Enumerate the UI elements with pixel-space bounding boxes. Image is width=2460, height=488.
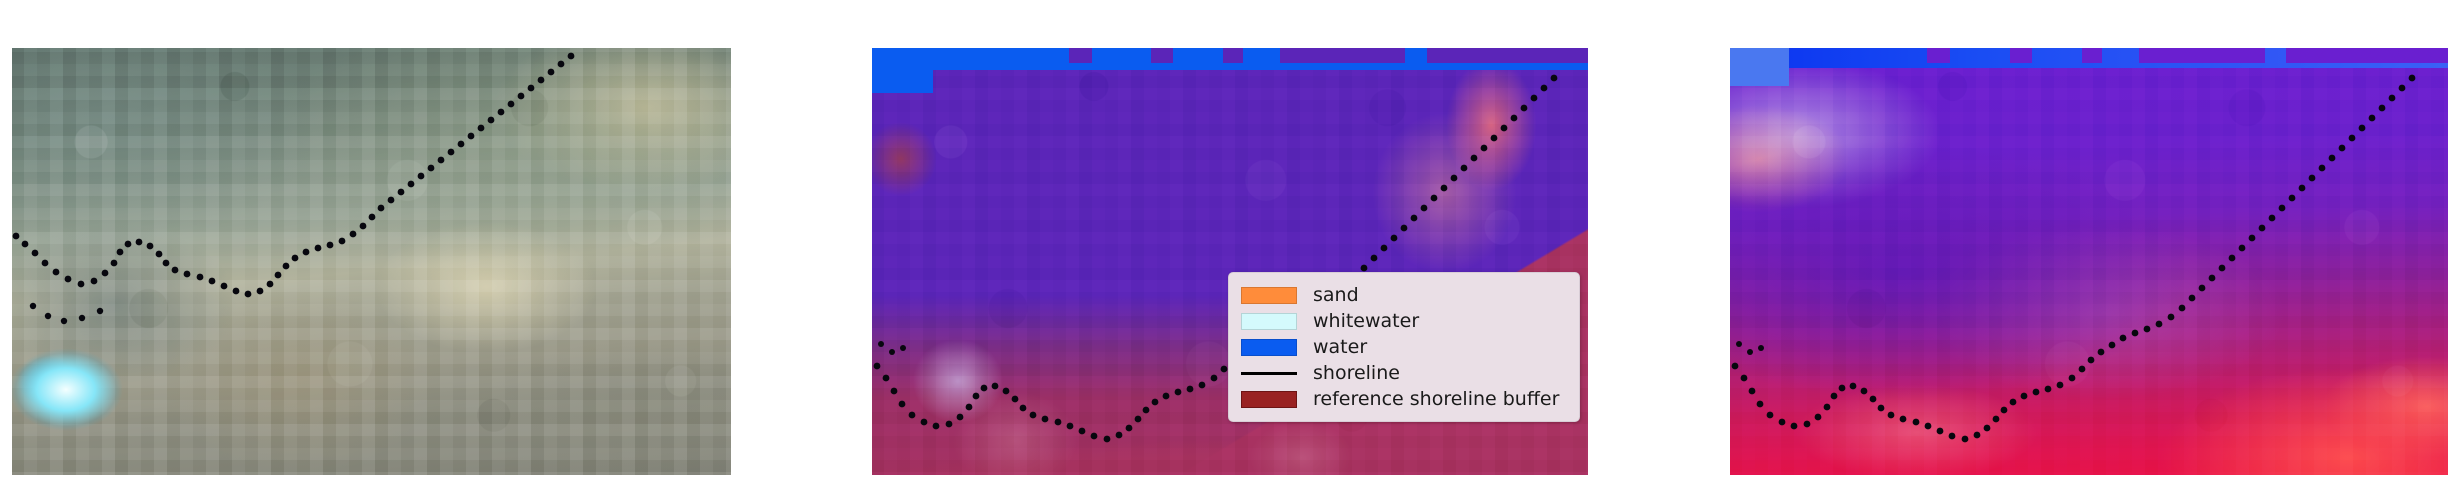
- legend-swatch-whitewater: [1241, 313, 1297, 330]
- legend-swatch-shoreline: [1241, 372, 1297, 375]
- sar-bright-cyan-patch: [12, 48, 731, 475]
- classified-water-notch-3: [1223, 48, 1243, 63]
- classified-water-corner: [872, 48, 933, 93]
- l9-pixel-mosaic: [1730, 48, 2448, 475]
- legend-label-reference-buffer: reference shoreline buffer: [1313, 388, 1559, 410]
- l9-water-corner: [1730, 48, 1789, 86]
- legend-swatch-reference-buffer: [1241, 391, 1297, 408]
- legend-item-sand: sand: [1241, 282, 1567, 308]
- figure-canvas: sar1728: [0, 0, 2460, 488]
- l9-water-notch-5: [2286, 48, 2448, 63]
- panel-sar1728-image: [12, 48, 731, 475]
- classified-water-notch-4: [1280, 48, 1405, 63]
- panel-sar1728: sar1728: [12, 48, 731, 475]
- legend-item-shoreline: shoreline: [1241, 360, 1567, 386]
- legend-label-whitewater: whitewater: [1313, 310, 1419, 332]
- legend-item-reference-buffer: reference shoreline buffer: [1241, 386, 1567, 412]
- legend-item-whitewater: whitewater: [1241, 308, 1567, 334]
- legend-label-sand: sand: [1313, 284, 1359, 306]
- legend-swatch-water: [1241, 339, 1297, 356]
- l9-water-notch-3: [2082, 48, 2102, 63]
- legend-label-water: water: [1313, 336, 1367, 358]
- classified-water-notch-2: [1151, 48, 1172, 63]
- l9-water-notch-2: [2010, 48, 2032, 63]
- l9-water-notch-1: [1927, 48, 1950, 63]
- legend-swatch-sand: [1241, 287, 1297, 304]
- legend-label-shoreline: shoreline: [1313, 362, 1400, 384]
- legend-box: sand whitewater water shoreline referenc…: [1228, 272, 1580, 422]
- l9-water-notch-4: [2139, 48, 2265, 63]
- classified-water-notch-5: [1427, 48, 1588, 63]
- legend-item-water: water: [1241, 334, 1567, 360]
- classified-water-notch-1: [1069, 48, 1092, 63]
- panel-l9-image: [1730, 48, 2448, 475]
- panel-l9: L9: [1730, 48, 2448, 475]
